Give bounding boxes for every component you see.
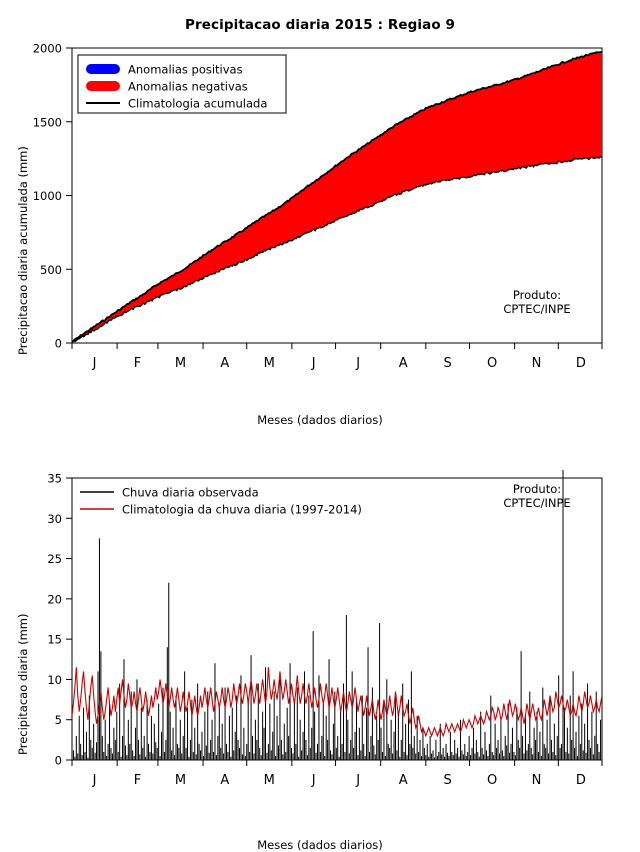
legend-label: Climatologia acumulada — [128, 97, 267, 111]
legend-swatch — [86, 64, 120, 74]
x-axis-tick-label: S — [444, 773, 452, 788]
x-axis-tick-label: O — [487, 773, 497, 788]
x-axis-tick-label: M — [264, 773, 275, 788]
daily-y-axis-title: Precipitacao diaria (mm) — [16, 614, 30, 755]
y-axis-tick-label: 1000 — [33, 189, 62, 203]
y-axis-tick-label: 500 — [40, 263, 62, 277]
page-title: Precipitacao diaria 2015 : Regiao 9 — [0, 17, 640, 33]
producer-note-line2: CPTEC/INPE — [472, 496, 602, 510]
x-axis-tick-label: D — [576, 356, 586, 371]
x-axis-tick-label: J — [92, 773, 97, 788]
x-axis-tick-label: A — [399, 773, 408, 788]
x-axis-tick-label: S — [444, 356, 452, 371]
y-axis-tick-label: 5 — [55, 713, 62, 727]
figure-canvas: Precipitacao diaria 2015 : Regiao 9 0500… — [0, 0, 640, 850]
legend-swatch — [86, 81, 120, 91]
accumulated-precipitation-panel: 0500100015002000JFMAMJJASONDAnomalias po… — [0, 35, 640, 425]
y-axis-tick-label: 35 — [47, 472, 62, 486]
daily-precipitation-panel: 05101520253035JFMAMJJASONDChuva diaria o… — [0, 460, 640, 850]
x-axis-tick-label: J — [355, 773, 360, 788]
x-axis-tick-label: N — [532, 356, 542, 371]
producer-note-line1: Produto: — [472, 288, 602, 302]
y-axis-tick-label: 0 — [55, 337, 62, 351]
y-axis-tick-label: 30 — [47, 512, 62, 526]
legend-label: Anomalias negativas — [128, 80, 248, 94]
x-axis-tick-label: D — [576, 773, 586, 788]
x-axis-tick-label: J — [311, 773, 316, 788]
x-axis-tick-label: A — [399, 356, 408, 371]
x-axis-tick-label: J — [311, 356, 316, 371]
y-axis-tick-label: 25 — [47, 552, 62, 566]
x-axis-tick-label: J — [92, 356, 97, 371]
accumulated-producer-note: Produto: CPTEC/INPE — [472, 288, 602, 316]
daily-producer-note: Produto: CPTEC/INPE — [472, 482, 602, 510]
legend-label: Chuva diaria observada — [122, 486, 259, 500]
x-axis-tick-label: F — [134, 356, 141, 371]
y-axis-tick-label: 10 — [47, 673, 62, 687]
producer-note-line2: CPTEC/INPE — [472, 302, 602, 316]
x-axis-tick-label: M — [175, 356, 186, 371]
x-axis-tick-label: A — [220, 356, 229, 371]
accumulated-y-axis-title: Precipitacao diaria acumulada (mm) — [16, 146, 30, 355]
y-axis-tick-label: 15 — [47, 633, 62, 647]
daily-chart-plot: 05101520253035JFMAMJJASONDChuva diaria o… — [0, 460, 640, 850]
y-axis-tick-label: 20 — [47, 592, 62, 606]
producer-note-line1: Produto: — [472, 482, 602, 496]
x-axis-tick-label: O — [487, 356, 497, 371]
y-axis-tick-label: 1500 — [33, 115, 62, 129]
y-axis-tick-label: 2000 — [33, 42, 62, 56]
accumulated-chart-plot: 0500100015002000JFMAMJJASONDAnomalias po… — [0, 35, 640, 425]
accumulated-x-axis-title: Meses (dados diarios) — [0, 413, 640, 427]
legend-label: Anomalias positivas — [128, 63, 243, 77]
x-axis-tick-label: J — [355, 356, 360, 371]
x-axis-tick-label: A — [220, 773, 229, 788]
x-axis-tick-label: F — [134, 773, 141, 788]
x-axis-tick-label: M — [175, 773, 186, 788]
legend-label: Climatologia da chuva diaria (1997-2014) — [122, 503, 362, 517]
y-axis-tick-label: 0 — [55, 754, 62, 768]
x-axis-tick-label: M — [264, 356, 275, 371]
x-axis-tick-label: N — [532, 773, 542, 788]
